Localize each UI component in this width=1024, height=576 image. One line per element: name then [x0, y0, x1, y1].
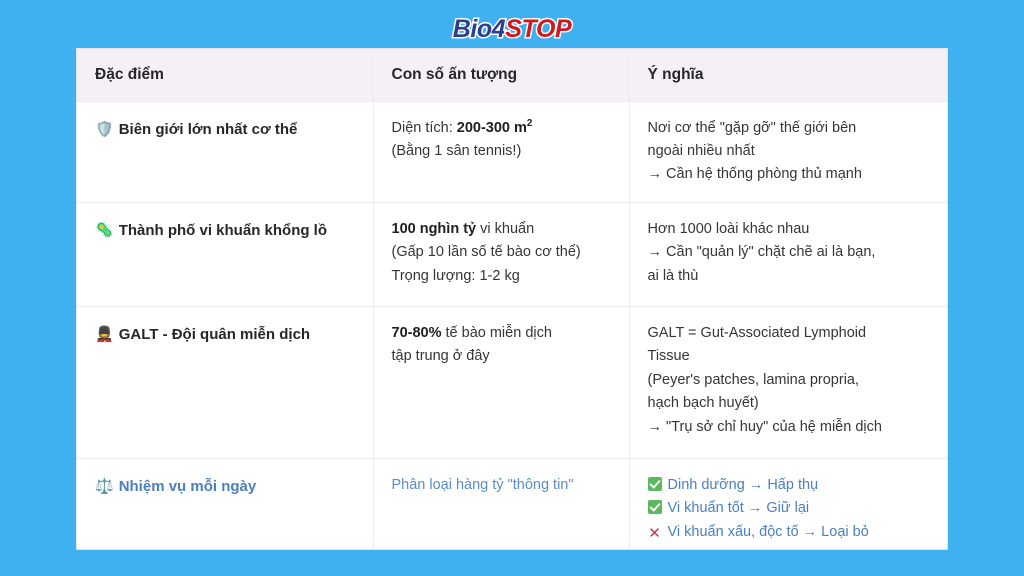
number-prefix: Diện tích: — [392, 120, 457, 136]
feature-text: Biên giới lớn nhất cơ thể — [119, 121, 298, 138]
number-line: tập trung ở đây — [392, 345, 615, 368]
cell-meaning: Hơn 1000 loài khác nhau → Cần "quản lý" … — [629, 202, 948, 306]
meaning-item-text: Dinh dưỡng → Hấp thụ — [668, 477, 819, 493]
meaning-line: → "Trụ sở chỉ huy" của hệ miễn dịch — [648, 416, 936, 439]
cell-feature: 🛡️Biên giới lớn nhất cơ thể — [77, 101, 373, 202]
table-header-row: Đặc điểm Con số ấn tượng Ý nghĩa — [77, 49, 948, 101]
meaning-line: (Peyer's patches, lamina propria, — [648, 369, 936, 392]
cross-icon: ✕ — [648, 526, 662, 540]
meaning-line: Nơi cơ thể "gặp gỡ" thế giới bên — [648, 117, 936, 140]
meaning-line: GALT = Gut-Associated Lymphoid — [648, 322, 936, 345]
cell-feature: 🦠Thành phố vi khuẩn khổng lồ — [77, 202, 373, 306]
meaning-line: ai là thù — [648, 265, 936, 288]
number-suffix: tế bào miễn dịch — [441, 325, 551, 341]
number-line: 100 nghìn tỷ vi khuẩn — [392, 218, 615, 241]
meaning-item: ✕Vi khuẩn xấu, độc tố → Loại bỏ — [648, 521, 936, 544]
column-header-meaning: Ý nghĩa — [629, 49, 948, 101]
meaning-line: Tissue — [648, 345, 936, 368]
feature-text: Thành phố vi khuẩn khổng lồ — [119, 222, 327, 239]
meaning-item: Vi khuẩn tốt → Giữ lại — [648, 497, 936, 520]
number-superscript: 2 — [527, 118, 532, 129]
number-bold: 200-300 m — [457, 120, 527, 136]
column-header-feature: Đặc điểm — [77, 49, 373, 101]
cell-meaning: GALT = Gut-Associated Lymphoid Tissue (P… — [629, 306, 948, 458]
number-line: Phân loại hàng tỷ "thông tin" — [392, 474, 615, 497]
meaning-line: Hơn 1000 loài khác nhau — [648, 218, 936, 241]
meaning-item-text: Vi khuẩn xấu, độc tố → Loại bỏ — [668, 524, 869, 540]
cell-feature: ⚖️Nhiệm vụ mỗi ngày — [77, 458, 373, 550]
feature-text: GALT - Đội quân miễn dịch — [119, 326, 310, 343]
feature-label: 🛡️Biên giới lớn nhất cơ thể — [95, 121, 297, 138]
fact-table: Đặc điểm Con số ấn tượng Ý nghĩa 🛡️Biên … — [77, 49, 948, 550]
cell-number: Phân loại hàng tỷ "thông tin" — [373, 458, 629, 550]
table-row: 🛡️Biên giới lớn nhất cơ thể Diện tích: 2… — [77, 101, 948, 202]
feature-label: 💂GALT - Đội quân miễn dịch — [95, 326, 310, 343]
table-row: 🦠Thành phố vi khuẩn khổng lồ 100 nghìn t… — [77, 202, 948, 306]
table-header: Đặc điểm Con số ấn tượng Ý nghĩa — [77, 49, 948, 101]
guard-officer-icon: 💂 — [95, 325, 114, 343]
number-suffix: vi khuẩn — [476, 221, 534, 237]
cell-number: 100 nghìn tỷ vi khuẩn (Gấp 10 lần số tế … — [373, 202, 629, 306]
number-line: Trọng lượng: 1-2 kg — [392, 265, 615, 288]
cell-meaning: Nơi cơ thể "gặp gỡ" thế giới bên ngoài n… — [629, 101, 948, 202]
cell-feature: 💂GALT - Đội quân miễn dịch — [77, 306, 373, 458]
microbe-icon: 🦠 — [95, 221, 114, 239]
balance-scale-icon: ⚖️ — [95, 477, 114, 495]
meaning-item-text: Vi khuẩn tốt → Giữ lại — [668, 500, 810, 516]
number-line: Diện tích: 200-300 m2 — [392, 117, 615, 140]
meaning-line: → Cần "quản lý" chặt chẽ ai là bạn, — [648, 241, 936, 264]
brand-logo: Bio4STOP — [0, 14, 1024, 44]
number-line: (Bằng 1 sân tennis!) — [392, 140, 615, 163]
cell-number: Diện tích: 200-300 m2 (Bằng 1 sân tennis… — [373, 101, 629, 202]
number-line: (Gấp 10 lần số tế bào cơ thể) — [392, 241, 615, 264]
logo-stop-text: STOP — [505, 15, 571, 43]
column-header-number: Con số ấn tượng — [373, 49, 629, 101]
number-bold: 70-80% — [392, 325, 442, 341]
check-icon — [648, 500, 662, 514]
meaning-line: ngoài nhiều nhất — [648, 140, 936, 163]
fact-table-card: Đặc điểm Con số ấn tượng Ý nghĩa 🛡️Biên … — [76, 48, 948, 550]
logo-text: Bio4STOP — [453, 14, 572, 44]
meaning-line: → Cần hệ thống phòng thủ mạnh — [648, 163, 936, 186]
cell-number: 70-80% tế bào miễn dịch tập trung ở đây — [373, 306, 629, 458]
feature-text: Nhiệm vụ mỗi ngày — [119, 478, 257, 495]
logo-bio-text: Bio4 — [453, 15, 506, 43]
meaning-item: Dinh dưỡng → Hấp thụ — [648, 474, 936, 497]
number-bold: 100 nghìn tỷ — [392, 221, 477, 237]
number-line: 70-80% tế bào miễn dịch — [392, 322, 615, 345]
table-row: ⚖️Nhiệm vụ mỗi ngày Phân loại hàng tỷ "t… — [77, 458, 948, 550]
meaning-line: hạch bạch huyết) — [648, 392, 936, 415]
feature-label: 🦠Thành phố vi khuẩn khổng lồ — [95, 222, 327, 239]
table-row: 💂GALT - Đội quân miễn dịch 70-80% tế bào… — [77, 306, 948, 458]
table-body: 🛡️Biên giới lớn nhất cơ thể Diện tích: 2… — [77, 101, 948, 550]
check-icon — [648, 477, 662, 491]
cell-meaning: Dinh dưỡng → Hấp thụ Vi khuẩn tốt → Giữ … — [629, 458, 948, 550]
shield-icon: 🛡️ — [95, 120, 114, 138]
feature-label: ⚖️Nhiệm vụ mỗi ngày — [95, 478, 256, 495]
